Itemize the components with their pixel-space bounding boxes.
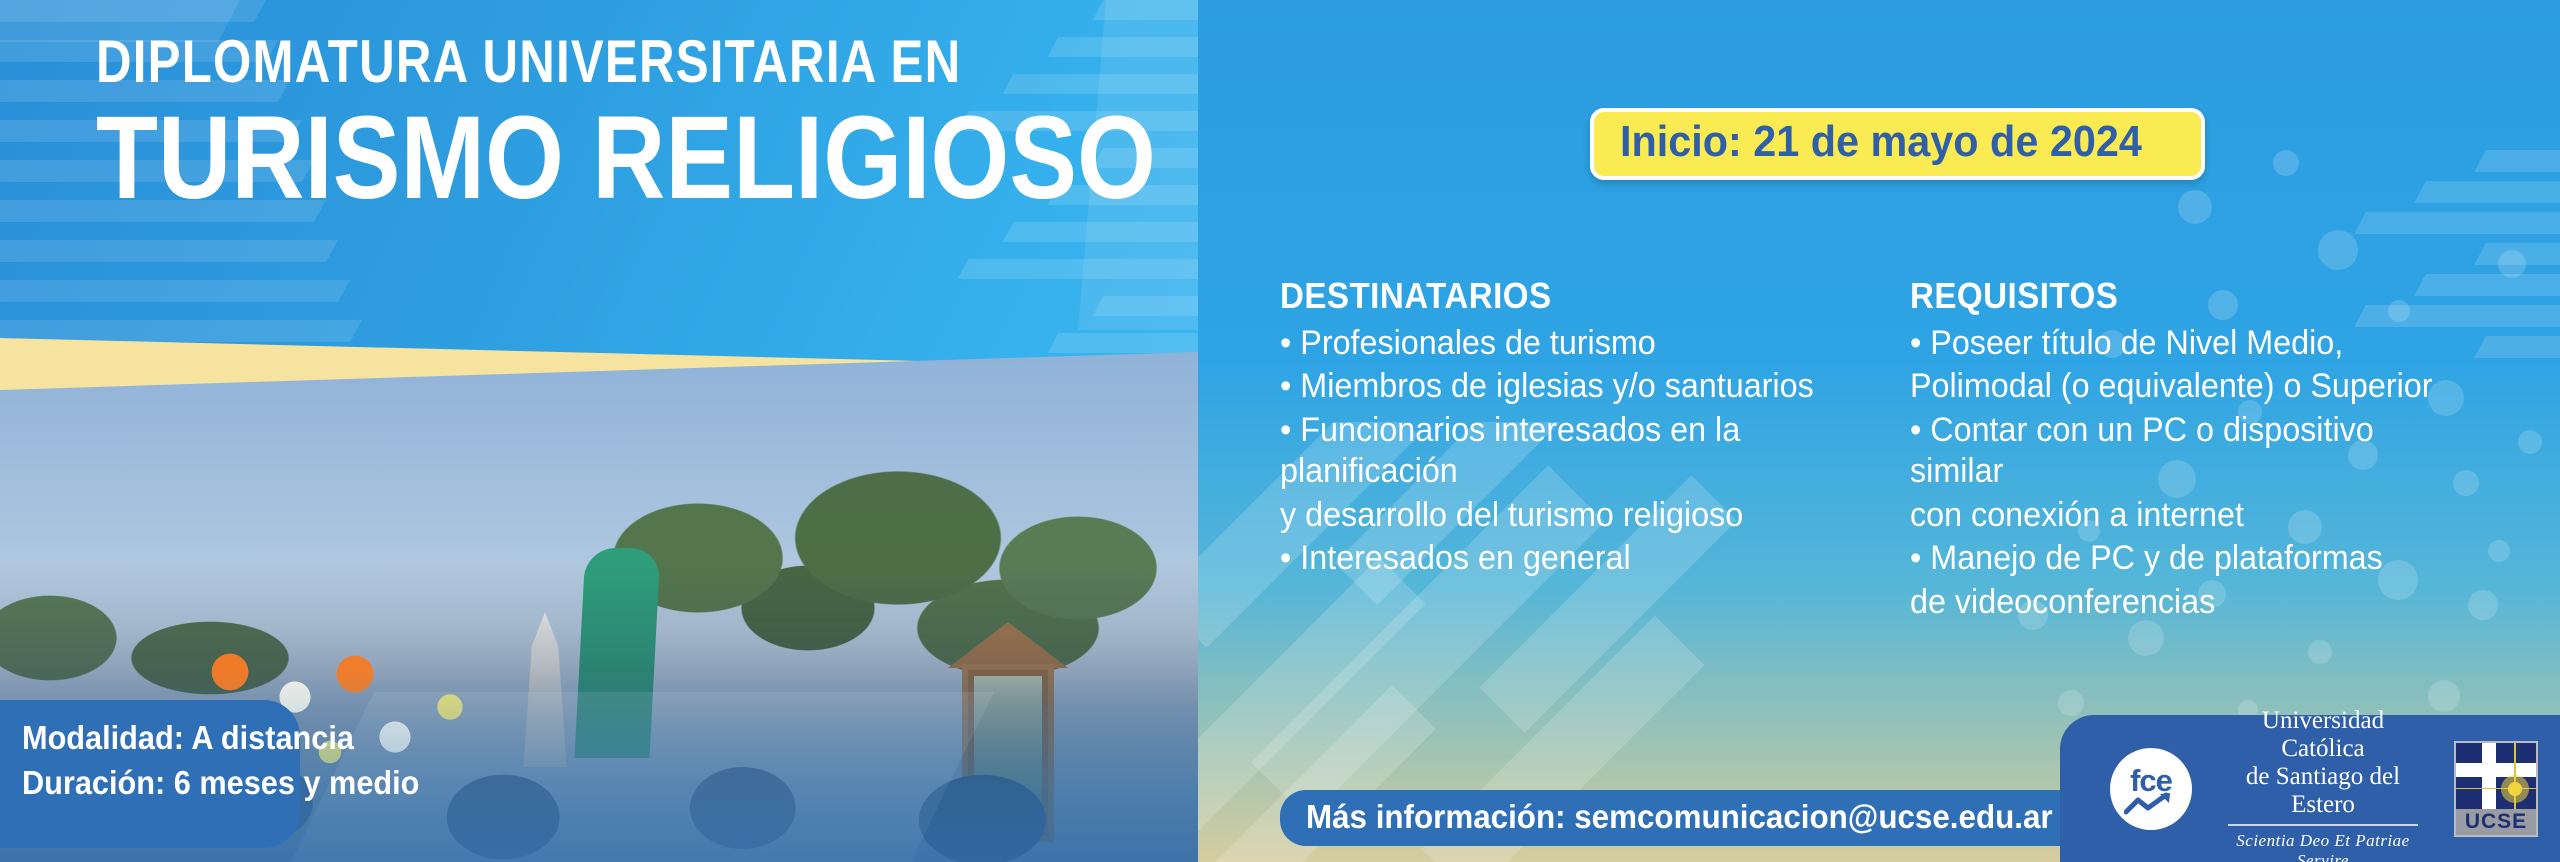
contact-pill[interactable]: Más información: semcomunicacion@ucse.ed… xyxy=(1280,790,2118,846)
divider-rule xyxy=(2228,824,2418,826)
promotional-banner: DIPLOMATURA UNIVERSITARIA EN TURISMO REL… xyxy=(0,0,2560,862)
university-motto: Scientia Deo Et Patriae Servire xyxy=(2218,831,2428,862)
list-item: • Contar con un PC o dispositivo similar xyxy=(1910,410,2471,493)
duration-line: Duración: 6 meses y medio xyxy=(22,761,262,806)
shield-crosshair-horizontal xyxy=(2456,788,2536,790)
fce-logo-icon: fce xyxy=(2110,748,2192,830)
right-panel: Inicio: 21 de mayo de 2024 DESTINATARIOS… xyxy=(1198,0,2560,862)
start-date-text: Inicio: 21 de mayo de 2024 xyxy=(1620,120,2142,164)
list-item: • Poseer título de Nivel Medio, xyxy=(1910,323,2471,364)
shield-cross-horizontal xyxy=(2456,763,2536,777)
list-item: • Miembros de iglesias y/o santuarios xyxy=(1280,366,1841,407)
column-requisitos: REQUISITOS • Poseer título de Nivel Medi… xyxy=(1910,275,2500,625)
growth-arrow-icon xyxy=(2124,792,2178,816)
contact-email-text: Más información: semcomunicacion@ucse.ed… xyxy=(1306,800,2053,833)
requisitos-heading: REQUISITOS xyxy=(1910,275,2453,317)
ucse-shield-icon: UCSE xyxy=(2454,741,2538,837)
title-line-two: TURISMO RELIGIOSO xyxy=(96,99,999,217)
modality-info-box: Modalidad: A distancia Duración: 6 meses… xyxy=(0,700,300,848)
page-title: DIPLOMATURA UNIVERSITARIA EN TURISMO REL… xyxy=(96,30,1146,217)
start-date-badge: Inicio: 21 de mayo de 2024 xyxy=(1590,108,2205,180)
column-destinatarios: DESTINATARIOS • Profesionales de turismo… xyxy=(1280,275,1870,625)
list-item: • Interesados en general xyxy=(1280,538,1841,579)
destinatarios-heading: DESTINATARIOS xyxy=(1280,275,1823,317)
shield-label: UCSE xyxy=(2456,809,2536,835)
title-line-one: DIPLOMATURA UNIVERSITARIA EN xyxy=(96,30,957,93)
shield-crosshair-vertical xyxy=(2514,743,2516,813)
list-item: y desarrollo del turismo religioso xyxy=(1280,495,1841,536)
list-item: con conexión a internet xyxy=(1910,495,2471,536)
list-item: • Manejo de PC y de plataformas xyxy=(1910,538,2471,579)
university-line-one: Universidad Católica xyxy=(2218,707,2428,763)
list-item: Polimodal (o equivalente) o Superior xyxy=(1910,366,2471,407)
shield-star xyxy=(2508,782,2522,796)
left-panel: DIPLOMATURA UNIVERSITARIA EN TURISMO REL… xyxy=(0,0,1198,862)
list-item: • Funcionarios interesados en la planifi… xyxy=(1280,410,1841,493)
modality-line: Modalidad: A distancia xyxy=(22,716,262,761)
logo-block: fce Universidad Católica de Santiago del… xyxy=(2060,715,2560,862)
info-columns: DESTINATARIOS • Profesionales de turismo… xyxy=(1280,275,2530,625)
list-item: • Profesionales de turismo xyxy=(1280,323,1841,364)
list-item: de videoconferencias xyxy=(1910,582,2471,623)
university-name: Universidad Católica de Santiago del Est… xyxy=(2218,707,2428,862)
university-line-two: de Santiago del Estero xyxy=(2218,763,2428,819)
shield-cross-vertical xyxy=(2482,743,2496,813)
